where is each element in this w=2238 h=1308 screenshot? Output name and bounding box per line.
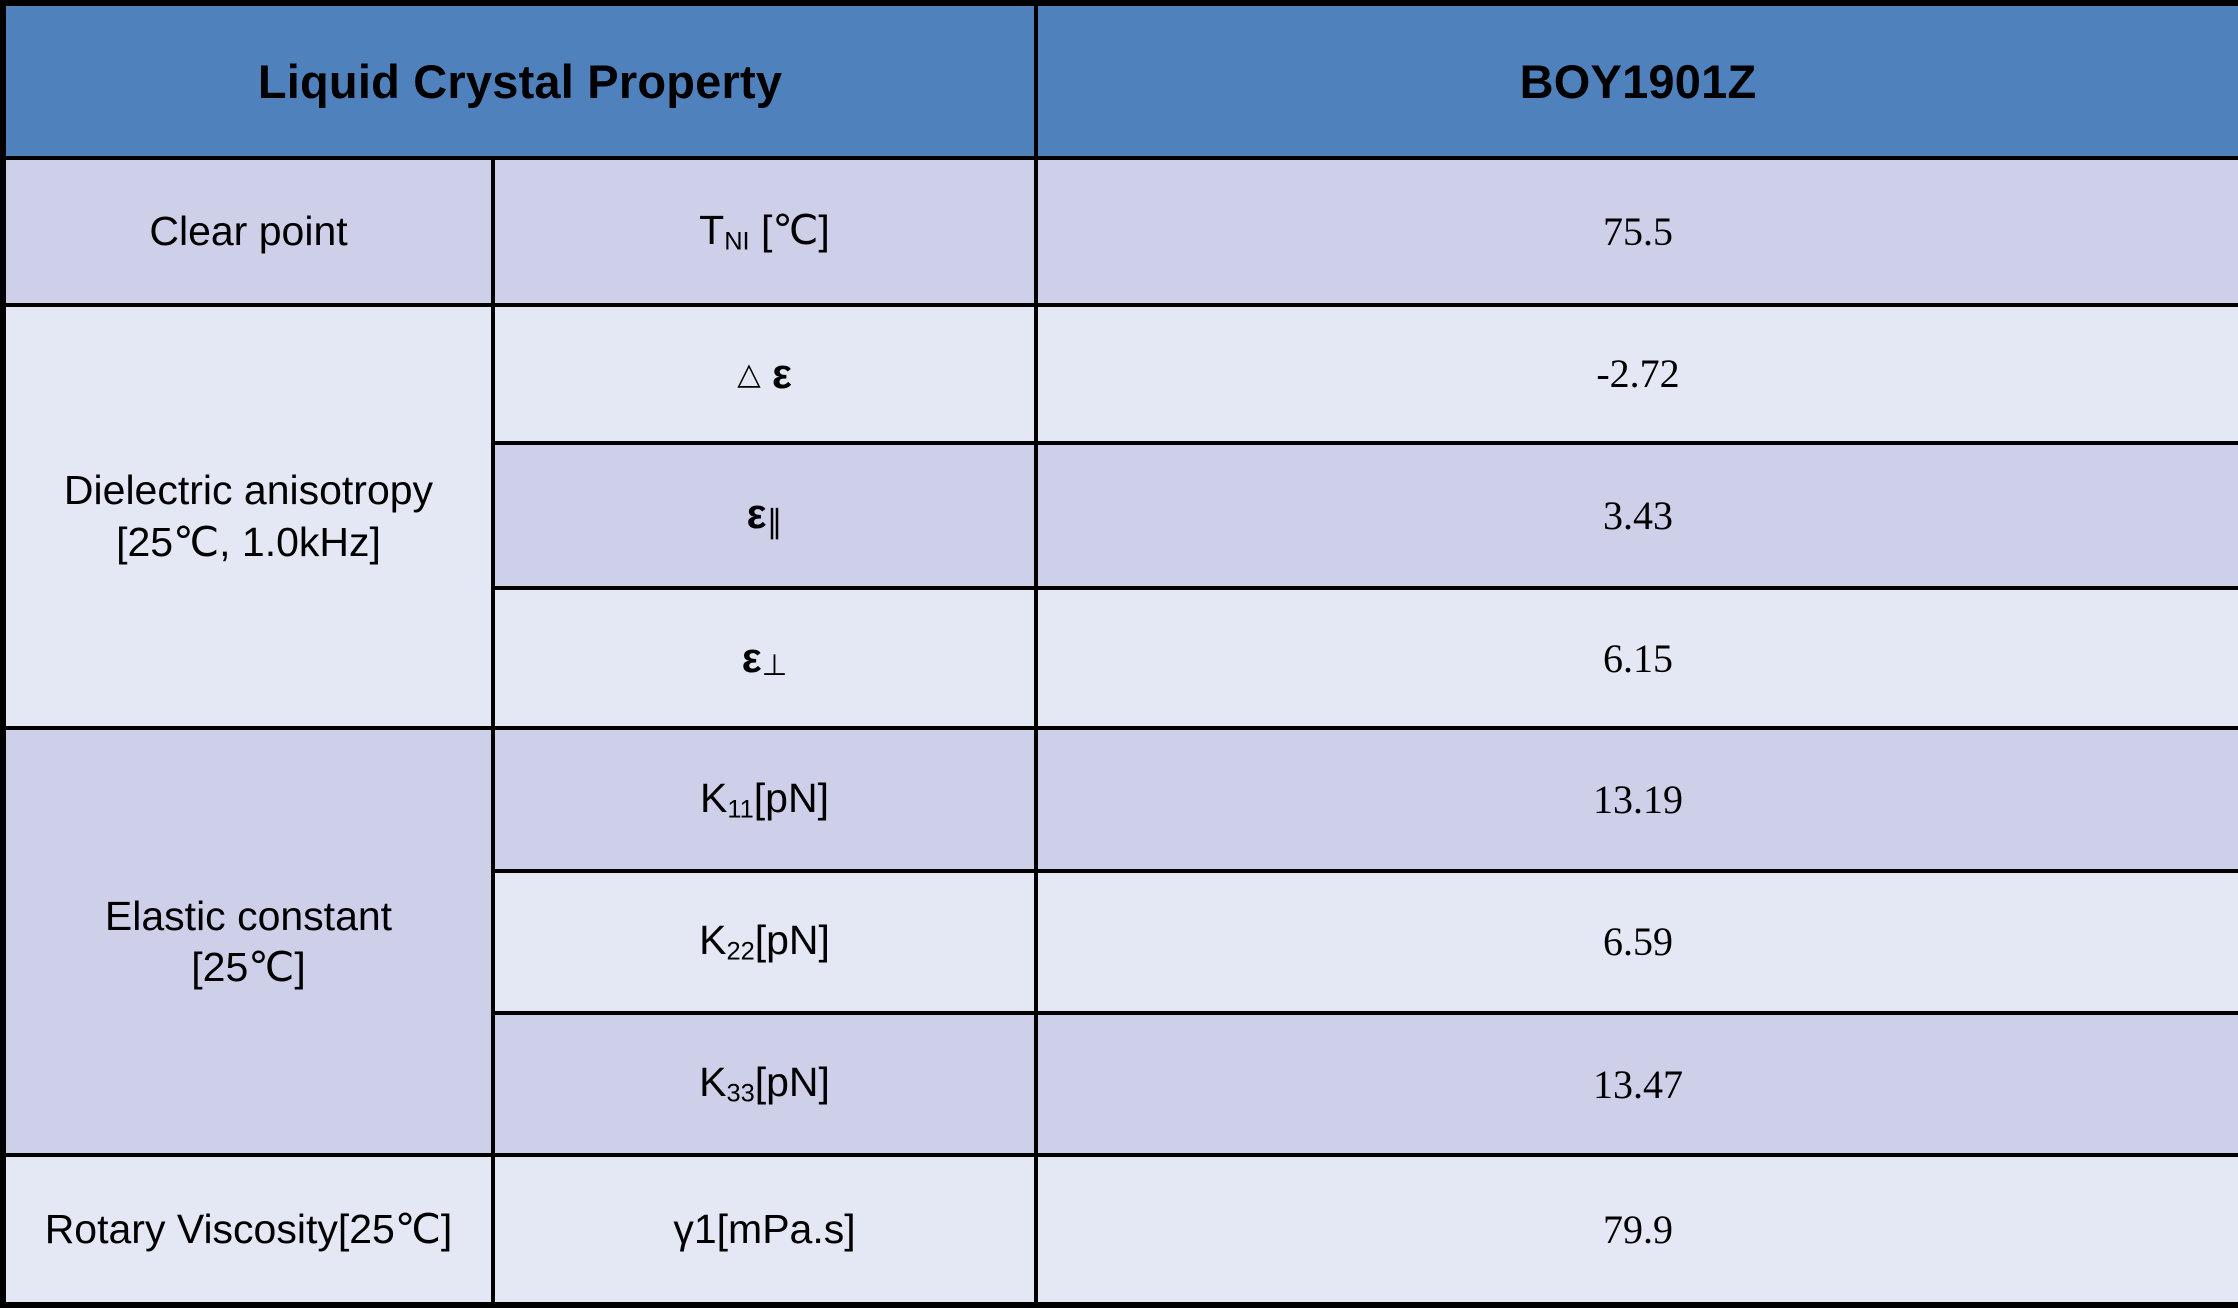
symbol-suffix: [pN] bbox=[754, 775, 829, 821]
symbol-tni: TNI [℃] bbox=[699, 207, 830, 253]
table-row: Dielectric anisotropy [25℃, 1.0kHz] △ ε … bbox=[3, 305, 2238, 443]
symbol-subscript: NI bbox=[724, 228, 749, 256]
row-symbol-k22: K22[pN] bbox=[493, 871, 1036, 1013]
table-row: Clear point TNI [℃] 75.5 bbox=[3, 158, 2238, 305]
row-symbol-epsilon-parallel: ε∥ bbox=[493, 443, 1036, 588]
group-label-line1: Rotary Viscosity[25℃] bbox=[45, 1206, 453, 1252]
symbol-base: ε bbox=[772, 350, 792, 397]
row-value-k11: 13.19 bbox=[1036, 728, 2238, 870]
symbol-subscript: 22 bbox=[726, 938, 754, 966]
symbol-gamma1: γ1[mPa.s] bbox=[673, 1206, 855, 1252]
group-label-line2: [25℃] bbox=[6, 942, 491, 993]
row-symbol-epsilon-perpendicular: ε⊥ bbox=[493, 588, 1036, 729]
symbol-base: ε bbox=[747, 490, 767, 537]
row-group-label-elastic-constant: Elastic constant [25℃] bbox=[3, 728, 493, 1155]
row-value-gamma1: 79.9 bbox=[1036, 1155, 2238, 1305]
row-symbol-tni: TNI [℃] bbox=[493, 158, 1036, 305]
row-value-clear-point: 75.5 bbox=[1036, 158, 2238, 305]
header-value-label: BOY1901Z bbox=[1036, 3, 2238, 158]
triangle-icon: △ bbox=[737, 358, 760, 391]
liquid-crystal-property-table: Liquid Crystal Property BOY1901Z Clear p… bbox=[0, 0, 2238, 1308]
symbol-suffix: [pN] bbox=[755, 917, 830, 963]
symbol-subscript: 11 bbox=[727, 795, 753, 823]
symbol-base: K bbox=[699, 917, 726, 963]
row-symbol-k11: K11[pN] bbox=[493, 728, 1036, 870]
row-value-epsilon-parallel: 3.43 bbox=[1036, 443, 2238, 588]
symbol-epsilon-perpendicular: ε⊥ bbox=[742, 635, 788, 681]
group-label-line1: Clear point bbox=[149, 208, 347, 254]
row-group-label-rotary-viscosity: Rotary Viscosity[25℃] bbox=[3, 1155, 493, 1305]
symbol-subscript: ∥ bbox=[766, 504, 782, 540]
row-group-label-clear-point: Clear point bbox=[3, 158, 493, 305]
symbol-delta-epsilon: △ ε bbox=[737, 351, 792, 397]
liquid-crystal-property-table-sheet: Liquid Crystal Property BOY1901Z Clear p… bbox=[0, 0, 2238, 1308]
row-value-delta-epsilon: -2.72 bbox=[1036, 305, 2238, 443]
symbol-suffix: [pN] bbox=[755, 1059, 830, 1105]
header-property-label: Liquid Crystal Property bbox=[3, 3, 1036, 158]
symbol-base: T bbox=[699, 207, 724, 253]
table-row: Rotary Viscosity[25℃] γ1[mPa.s] 79.9 bbox=[3, 1155, 2238, 1305]
symbol-epsilon-parallel: ε∥ bbox=[747, 491, 783, 537]
group-label-line1: Dielectric anisotropy bbox=[6, 465, 491, 516]
row-symbol-delta-epsilon: △ ε bbox=[493, 305, 1036, 443]
symbol-subscript: ⊥ bbox=[762, 649, 788, 682]
symbol-k33: K33[pN] bbox=[699, 1059, 830, 1105]
table-row: Elastic constant [25℃] K11[pN] 13.19 bbox=[3, 728, 2238, 870]
table-header-row: Liquid Crystal Property BOY1901Z bbox=[3, 3, 2238, 158]
symbol-base: K bbox=[699, 1059, 726, 1105]
symbol-base: K bbox=[700, 775, 727, 821]
row-value-k22: 6.59 bbox=[1036, 871, 2238, 1013]
group-label-line1: Elastic constant bbox=[6, 891, 491, 942]
symbol-suffix: [℃] bbox=[750, 207, 830, 253]
group-label-line2: [25℃, 1.0kHz] bbox=[6, 517, 491, 568]
row-group-label-dielectric-anisotropy: Dielectric anisotropy [25℃, 1.0kHz] bbox=[3, 305, 493, 729]
row-symbol-k33: K33[pN] bbox=[493, 1013, 1036, 1155]
symbol-base: ε bbox=[742, 634, 762, 681]
symbol-k11: K11[pN] bbox=[700, 775, 829, 821]
row-value-k33: 13.47 bbox=[1036, 1013, 2238, 1155]
row-symbol-gamma1: γ1[mPa.s] bbox=[493, 1155, 1036, 1305]
symbol-subscript: 33 bbox=[726, 1080, 754, 1108]
symbol-k22: K22[pN] bbox=[699, 917, 830, 963]
row-value-epsilon-perpendicular: 6.15 bbox=[1036, 588, 2238, 729]
